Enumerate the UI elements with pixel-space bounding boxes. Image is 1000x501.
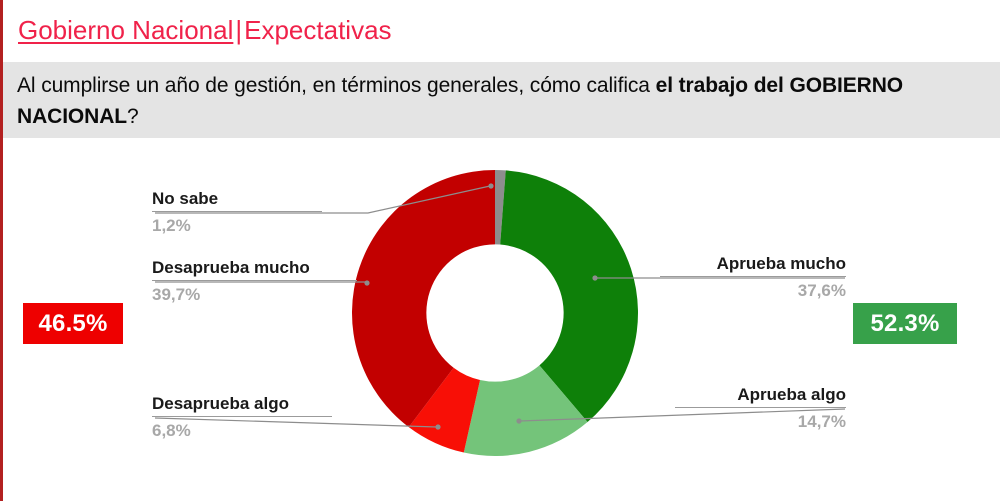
callout-aprueba-mucho: Aprueba mucho 37,6% [660,253,846,303]
callout-desaprueba-algo-value: 6,8% [152,417,332,443]
leader-dot-aprueba-algo [516,418,521,423]
page-title: Gobierno Nacional|Expectativas [18,16,392,46]
callout-no-sabe-label: No sabe [152,188,322,210]
callout-no-sabe-value: 1,2% [152,212,322,238]
status-badge-aprueba-total: 52.3% [853,303,957,344]
header-link-gobierno-nacional[interactable]: Gobierno Nacional [18,15,233,45]
callout-aprueba-algo-label: Aprueba algo [675,384,846,406]
callout-aprueba-algo: Aprueba algo 14,7% [675,384,846,434]
question-band: Al cumplirse un año de gestión, en térmi… [3,62,1000,138]
question-part-1: Al cumplirse un año de gestión, en térmi… [17,74,656,97]
leader-dot-aprueba-mucho [592,275,597,280]
header-separator: | [233,15,244,45]
question-text: Al cumplirse un año de gestión, en térmi… [17,70,984,132]
donut-chart: No sabe 1,2% Desaprueba mucho 39,7% Desa… [0,150,1000,470]
leader-dot-desaprueba-mucho [364,280,369,285]
callout-desaprueba-algo: Desaprueba algo 6,8% [152,393,332,443]
callout-aprueba-mucho-label: Aprueba mucho [660,253,846,275]
leader-dot-desaprueba-algo [435,424,440,429]
callout-aprueba-mucho-value: 37,6% [660,277,846,303]
callout-desaprueba-mucho-label: Desaprueba mucho [152,257,357,279]
callout-desaprueba-mucho-value: 39,7% [152,281,357,307]
callout-desaprueba-mucho: Desaprueba mucho 39,7% [152,257,357,307]
leader-lines [0,150,1000,470]
callout-no-sabe: No sabe 1,2% [152,188,322,238]
callout-desaprueba-algo-label: Desaprueba algo [152,393,332,415]
status-badge-desaprueba-total: 46.5% [23,303,123,344]
callout-aprueba-algo-value: 14,7% [675,408,846,434]
leader-dot-no-sabe [488,183,493,188]
question-part-2: ? [127,105,139,128]
header-subtitle: Expectativas [244,15,391,45]
